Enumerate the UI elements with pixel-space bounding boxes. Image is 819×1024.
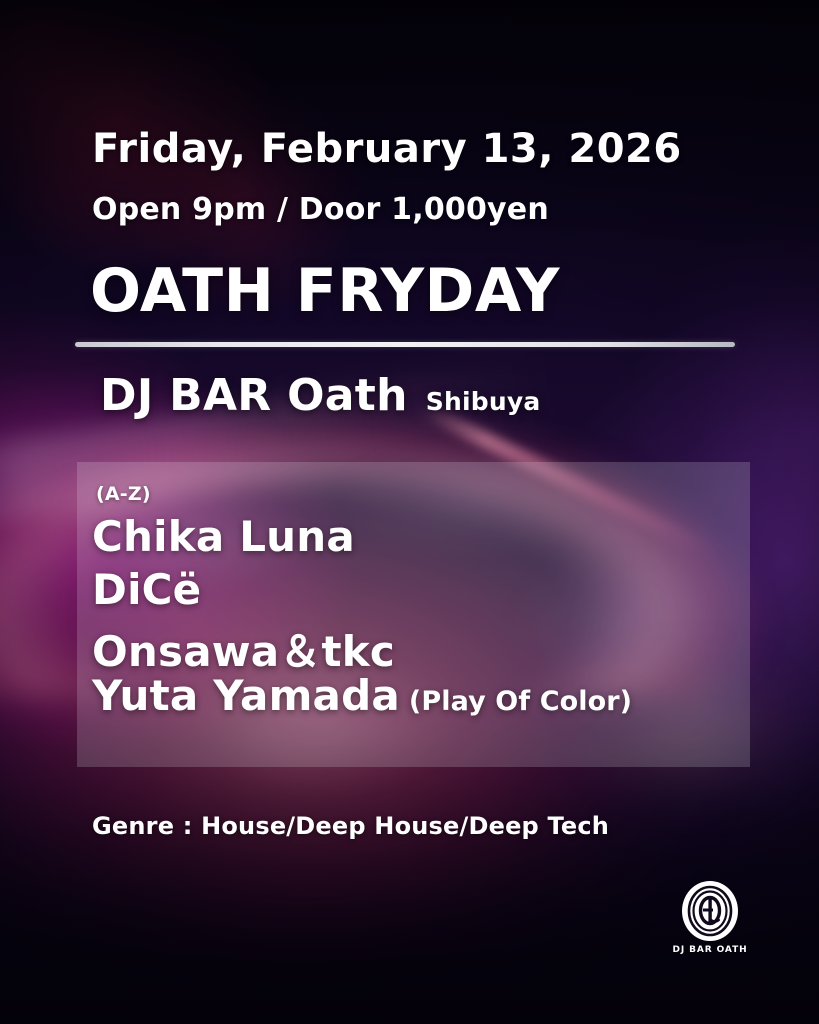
artist-affiliation: (Play Of Color) (409, 686, 632, 717)
logo-caption: DJ BAR OATH (668, 945, 752, 955)
list-item: DiCë (92, 565, 712, 618)
artist-name: DiCë (92, 565, 201, 614)
logo-badge-icon (678, 880, 742, 942)
flyer-content: Friday, February 13, 2026 Open 9pm / Doo… (0, 0, 819, 1024)
artist-name: Yuta Yamada (92, 671, 400, 720)
venue-row: DJ BAR Oath Shibuya (100, 370, 540, 421)
title-divider-rule (75, 342, 735, 347)
lineup-list: Chika Luna DiCë Onsawa＆tkc Yuta Yamada (… (92, 512, 712, 724)
lineup-order-note: (A-Z) (96, 483, 151, 505)
event-title: OATH FRYDAY (90, 260, 560, 323)
artist-name: Onsawa＆tkc (92, 618, 395, 679)
list-item: Yuta Yamada (Play Of Color) (92, 671, 712, 724)
event-flyer: Friday, February 13, 2026 Open 9pm / Doo… (0, 0, 819, 1024)
dj-bar-oath-logo: DJ BAR OATH (668, 880, 752, 956)
venue-area: Shibuya (426, 387, 541, 416)
list-item: Chika Luna (92, 512, 712, 565)
artist-name: Chika Luna (92, 512, 355, 561)
open-and-door-info: Open 9pm / Door 1,000yen (92, 192, 549, 227)
event-date: Friday, February 13, 2026 (92, 126, 682, 172)
venue-name: DJ BAR Oath (100, 370, 408, 421)
genre-line: Genre : House/Deep House/Deep Tech (92, 812, 609, 840)
list-item: Onsawa＆tkc (92, 618, 712, 671)
